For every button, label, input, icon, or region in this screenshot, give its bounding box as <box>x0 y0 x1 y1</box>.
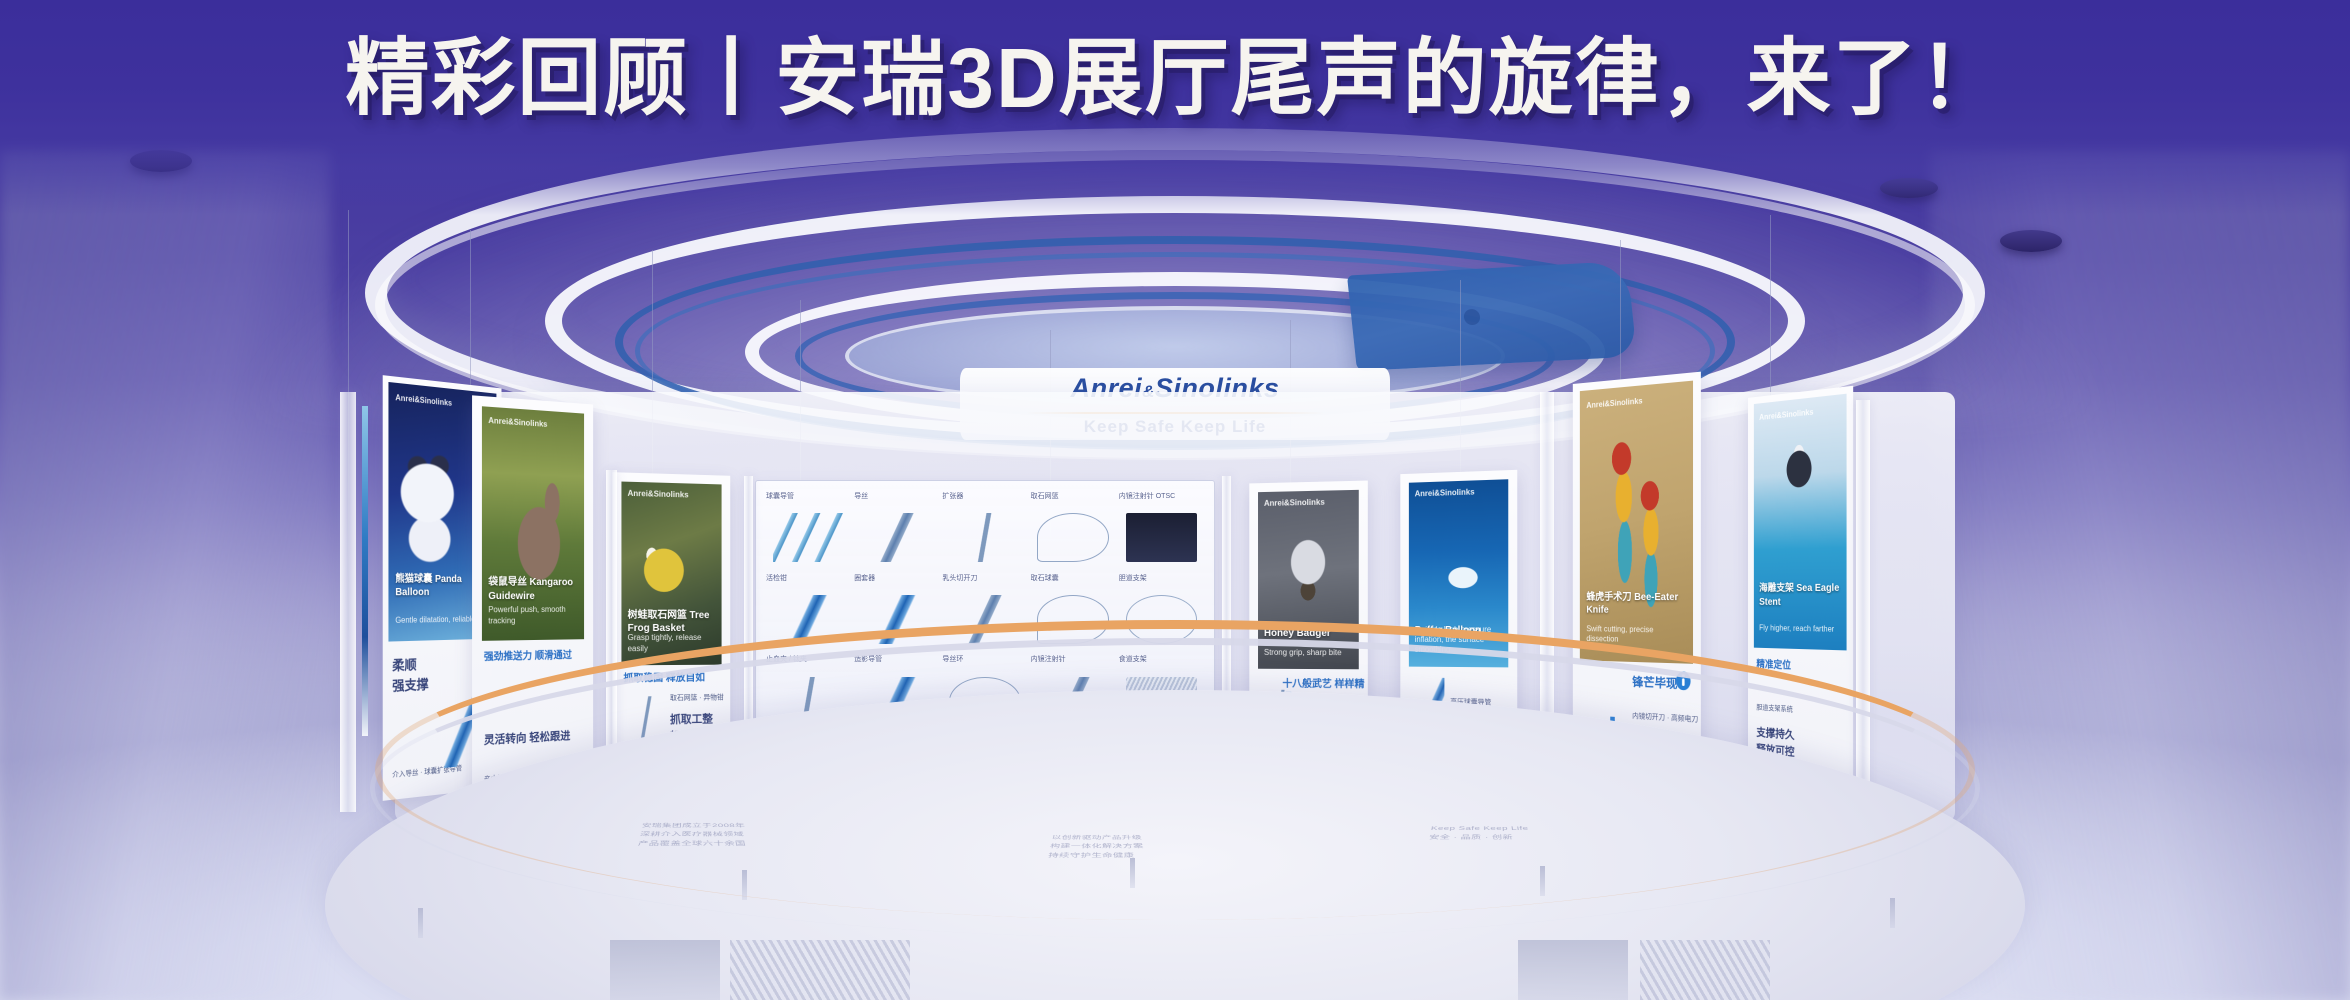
floor-base-block-hatched <box>730 940 910 1000</box>
poster-title: 蜂虎手术刀 Bee-Eater Knife <box>1586 591 1686 619</box>
poster-art-birds: Anrei&Sinolinks 蜂虎手术刀 Bee-Eater Knife Sw… <box>1580 381 1693 664</box>
floor-text-block: 以创新驱动产品升级 构建一体化解决方案 持续守护生命健康 <box>1047 834 1146 861</box>
product-label: 球囊导管 <box>766 493 851 500</box>
poster-subtitle: Powerful push, smooth tracking <box>488 605 578 626</box>
poster-title: 袋鼠导丝 Kangaroo Guidewire <box>488 576 578 603</box>
product-cell[interactable]: 球囊导管 <box>766 493 851 572</box>
product-cell[interactable]: 取石网篮 <box>1031 493 1116 572</box>
hall-pillar-light-strip <box>362 406 368 736</box>
product-device-shape <box>773 513 845 562</box>
ceiling-blue-accent-panel <box>1347 261 1637 371</box>
floor-rail-orange <box>375 620 1975 920</box>
poster-art-frog: Anrei&Sinolinks 树蛙取石网篮 Tree Frog Basket … <box>621 482 721 666</box>
product-cell[interactable]: 扩张器 <box>942 493 1027 572</box>
product-device-shape <box>949 513 1021 562</box>
poster-title: 海雕支架 Sea Eagle Stent <box>1759 582 1841 610</box>
floor-rail-post <box>1890 898 1895 928</box>
product-label: 取石球囊 <box>1031 575 1116 582</box>
product-label: 取石网篮 <box>1031 493 1116 500</box>
floor-base-block-hatched <box>1640 940 1770 1000</box>
product-cell[interactable]: 内镜注射针 OTSC <box>1119 493 1204 572</box>
page-title: 精彩回顾丨安瑞3D展厅尾声的旋律，来了！ <box>0 36 2350 120</box>
product-device-shape <box>1037 513 1109 562</box>
product-label: 活检钳 <box>766 575 851 582</box>
ceiling-spotlight <box>2000 230 2062 252</box>
product-device-shape <box>861 513 933 562</box>
poster-brand: Anrei&Sinolinks <box>488 416 547 429</box>
poster-art-kangaroo: Anrei&Sinolinks 袋鼠导丝 Kangaroo Guidewire … <box>482 406 584 641</box>
product-label: 乳头切开刀 <box>942 575 1027 582</box>
poster-caption-cn: 柔顺 强支撑 <box>392 655 428 696</box>
ceiling-spotlight <box>130 150 192 172</box>
poster-caption-blue: 强劲推送力 顺滑通过 <box>484 649 572 665</box>
floor-rail-post <box>742 870 747 900</box>
floor-base-block <box>610 940 720 1000</box>
poster-brand: Anrei&Sinolinks <box>628 489 689 500</box>
product-label: 胆道支架 <box>1119 575 1204 582</box>
poster-subtitle: Fly higher, reach farther <box>1759 623 1841 635</box>
floor-base-block <box>1518 940 1628 1000</box>
poster-art-eagle: Anrei&Sinolinks 海雕支架 Sea Eagle Stent Fly… <box>1754 394 1847 651</box>
hall-pillar <box>340 392 356 812</box>
product-label: 内镜注射针 OTSC <box>1119 493 1204 500</box>
poster-brand: Anrei&Sinolinks <box>1264 498 1325 508</box>
poster-brand: Anrei&Sinolinks <box>395 393 452 408</box>
product-label: 扩张器 <box>942 493 1027 500</box>
ceiling-spotlight <box>1880 178 1938 198</box>
poster-brand: Anrei&Sinolinks <box>1415 488 1475 499</box>
product-cell[interactable]: 导丝 <box>854 493 939 572</box>
poster-brand: Anrei&Sinolinks <box>1586 396 1642 410</box>
floor-text-block: 安瑞集团成立于2008年 深耕介入医疗器械领域 产品覆盖全球六十余国 <box>637 822 750 849</box>
floor-rail-post <box>418 908 423 938</box>
product-device-shape <box>1126 513 1198 562</box>
product-label: 导丝 <box>854 493 939 500</box>
floor-rail-post <box>1130 858 1135 888</box>
floor-rail-post <box>1540 866 1545 896</box>
floor-text-block: Keep Safe Keep Life 安全 · 品质 · 创新 <box>1428 824 1531 842</box>
product-label: 圈套器 <box>854 575 939 582</box>
poster-brand: Anrei&Sinolinks <box>1759 407 1813 422</box>
poster-title: 树蛙取石网篮 Tree Frog Basket <box>628 609 716 636</box>
exhibition-banner: Anrei&Sinolinks Keep Safe Keep Life Anre… <box>0 0 2350 1000</box>
